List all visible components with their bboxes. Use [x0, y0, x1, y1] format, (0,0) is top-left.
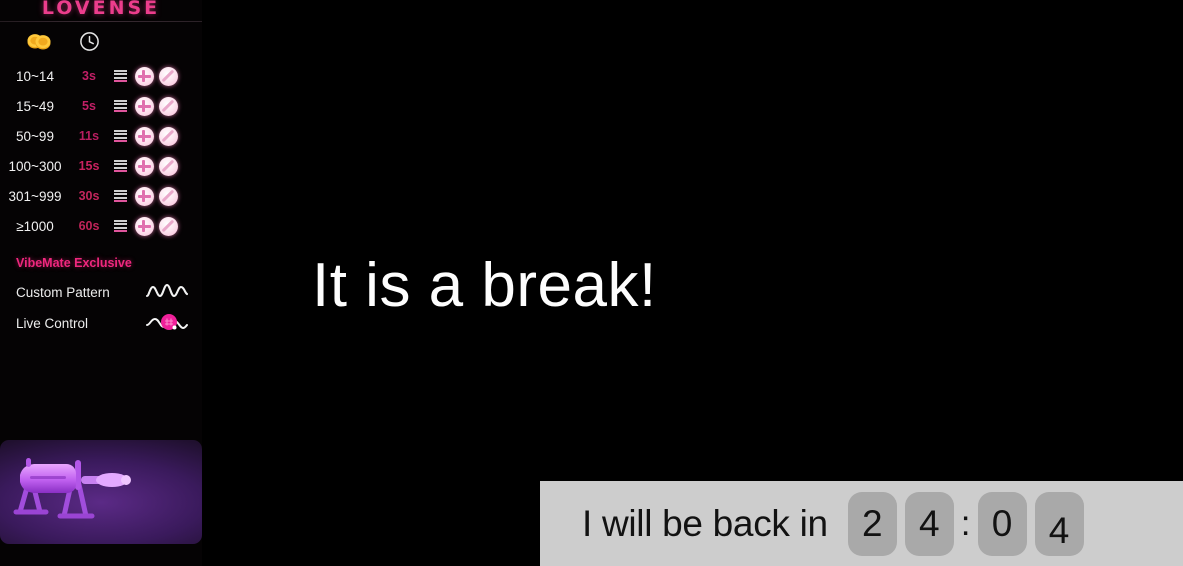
break-headline: It is a break!	[312, 252, 657, 320]
digit-hours-tens: 2	[848, 492, 897, 556]
machine-icon[interactable]	[132, 65, 156, 87]
lovense-tip-menu-panel: LOVENSE	[0, 0, 202, 566]
machine-icon[interactable]	[132, 215, 156, 237]
table-row[interactable]: 301~999 30s	[0, 181, 202, 211]
app-stage: LOVENSE	[0, 0, 1183, 566]
level-bars-icon[interactable]	[108, 70, 132, 83]
vibemate-exclusive-title: VibeMate Exclusive	[16, 256, 132, 270]
no-entry-icon[interactable]	[156, 65, 180, 87]
level-bars-icon[interactable]	[108, 130, 132, 143]
tip-duration: 15s	[70, 159, 108, 173]
table-row[interactable]: 50~99 11s	[0, 121, 202, 151]
live-control-label: Live Control	[16, 316, 88, 331]
no-entry-icon[interactable]	[156, 95, 180, 117]
countdown-banner: I will be back in 2 4 : 0 4	[540, 481, 1183, 566]
tip-duration: 5s	[70, 99, 108, 113]
header-divider	[0, 21, 202, 22]
custom-pattern-label: Custom Pattern	[16, 285, 110, 300]
live-waveform-icon[interactable]	[145, 311, 189, 335]
no-entry-icon[interactable]	[156, 215, 180, 237]
list-item[interactable]: Custom Pattern	[0, 279, 202, 305]
machine-icon[interactable]	[132, 125, 156, 147]
machine-icon[interactable]	[132, 185, 156, 207]
no-entry-icon[interactable]	[156, 185, 180, 207]
clock-icon	[79, 31, 100, 52]
brand-header: LOVENSE	[0, 0, 202, 22]
level-bars-icon[interactable]	[108, 220, 132, 233]
tip-range: 10~14	[0, 69, 70, 84]
tip-duration: 11s	[70, 129, 108, 143]
digit-minutes-ones: 4	[1035, 492, 1084, 556]
level-bars-icon[interactable]	[108, 100, 132, 113]
table-row[interactable]: 100~300 15s	[0, 151, 202, 181]
countdown-digits: 2 4 : 0 4	[844, 492, 1088, 556]
digit-hours-ones: 4	[905, 492, 954, 556]
level-bars-icon[interactable]	[108, 190, 132, 203]
countdown-separator: :	[961, 506, 971, 541]
list-item[interactable]: Live Control	[0, 310, 202, 336]
tip-range: 15~49	[0, 99, 70, 114]
tip-duration: 30s	[70, 189, 108, 203]
table-row[interactable]: 10~14 3s	[0, 61, 202, 91]
table-row[interactable]: ≥1000 60s	[0, 211, 202, 241]
tip-range: ≥1000	[0, 219, 70, 234]
device-thumbnail[interactable]	[0, 440, 202, 544]
machine-icon[interactable]	[132, 95, 156, 117]
tip-range: 100~300	[0, 159, 70, 174]
tip-range: 301~999	[0, 189, 70, 204]
machine-icon[interactable]	[132, 155, 156, 177]
tip-duration: 60s	[70, 219, 108, 233]
tip-range: 50~99	[0, 129, 70, 144]
waveform-icon[interactable]	[145, 280, 189, 304]
level-bars-icon[interactable]	[108, 160, 132, 173]
lovense-logo: LOVENSE	[42, 0, 160, 18]
digit-minutes-tens: 0	[978, 492, 1027, 556]
no-entry-icon[interactable]	[156, 125, 180, 147]
table-row[interactable]: 15~49 5s	[0, 91, 202, 121]
tip-duration: 3s	[70, 69, 108, 83]
coins-icon	[26, 33, 52, 50]
no-entry-icon[interactable]	[156, 155, 180, 177]
column-header-row	[0, 30, 202, 62]
countdown-label: I will be back in	[582, 503, 828, 545]
